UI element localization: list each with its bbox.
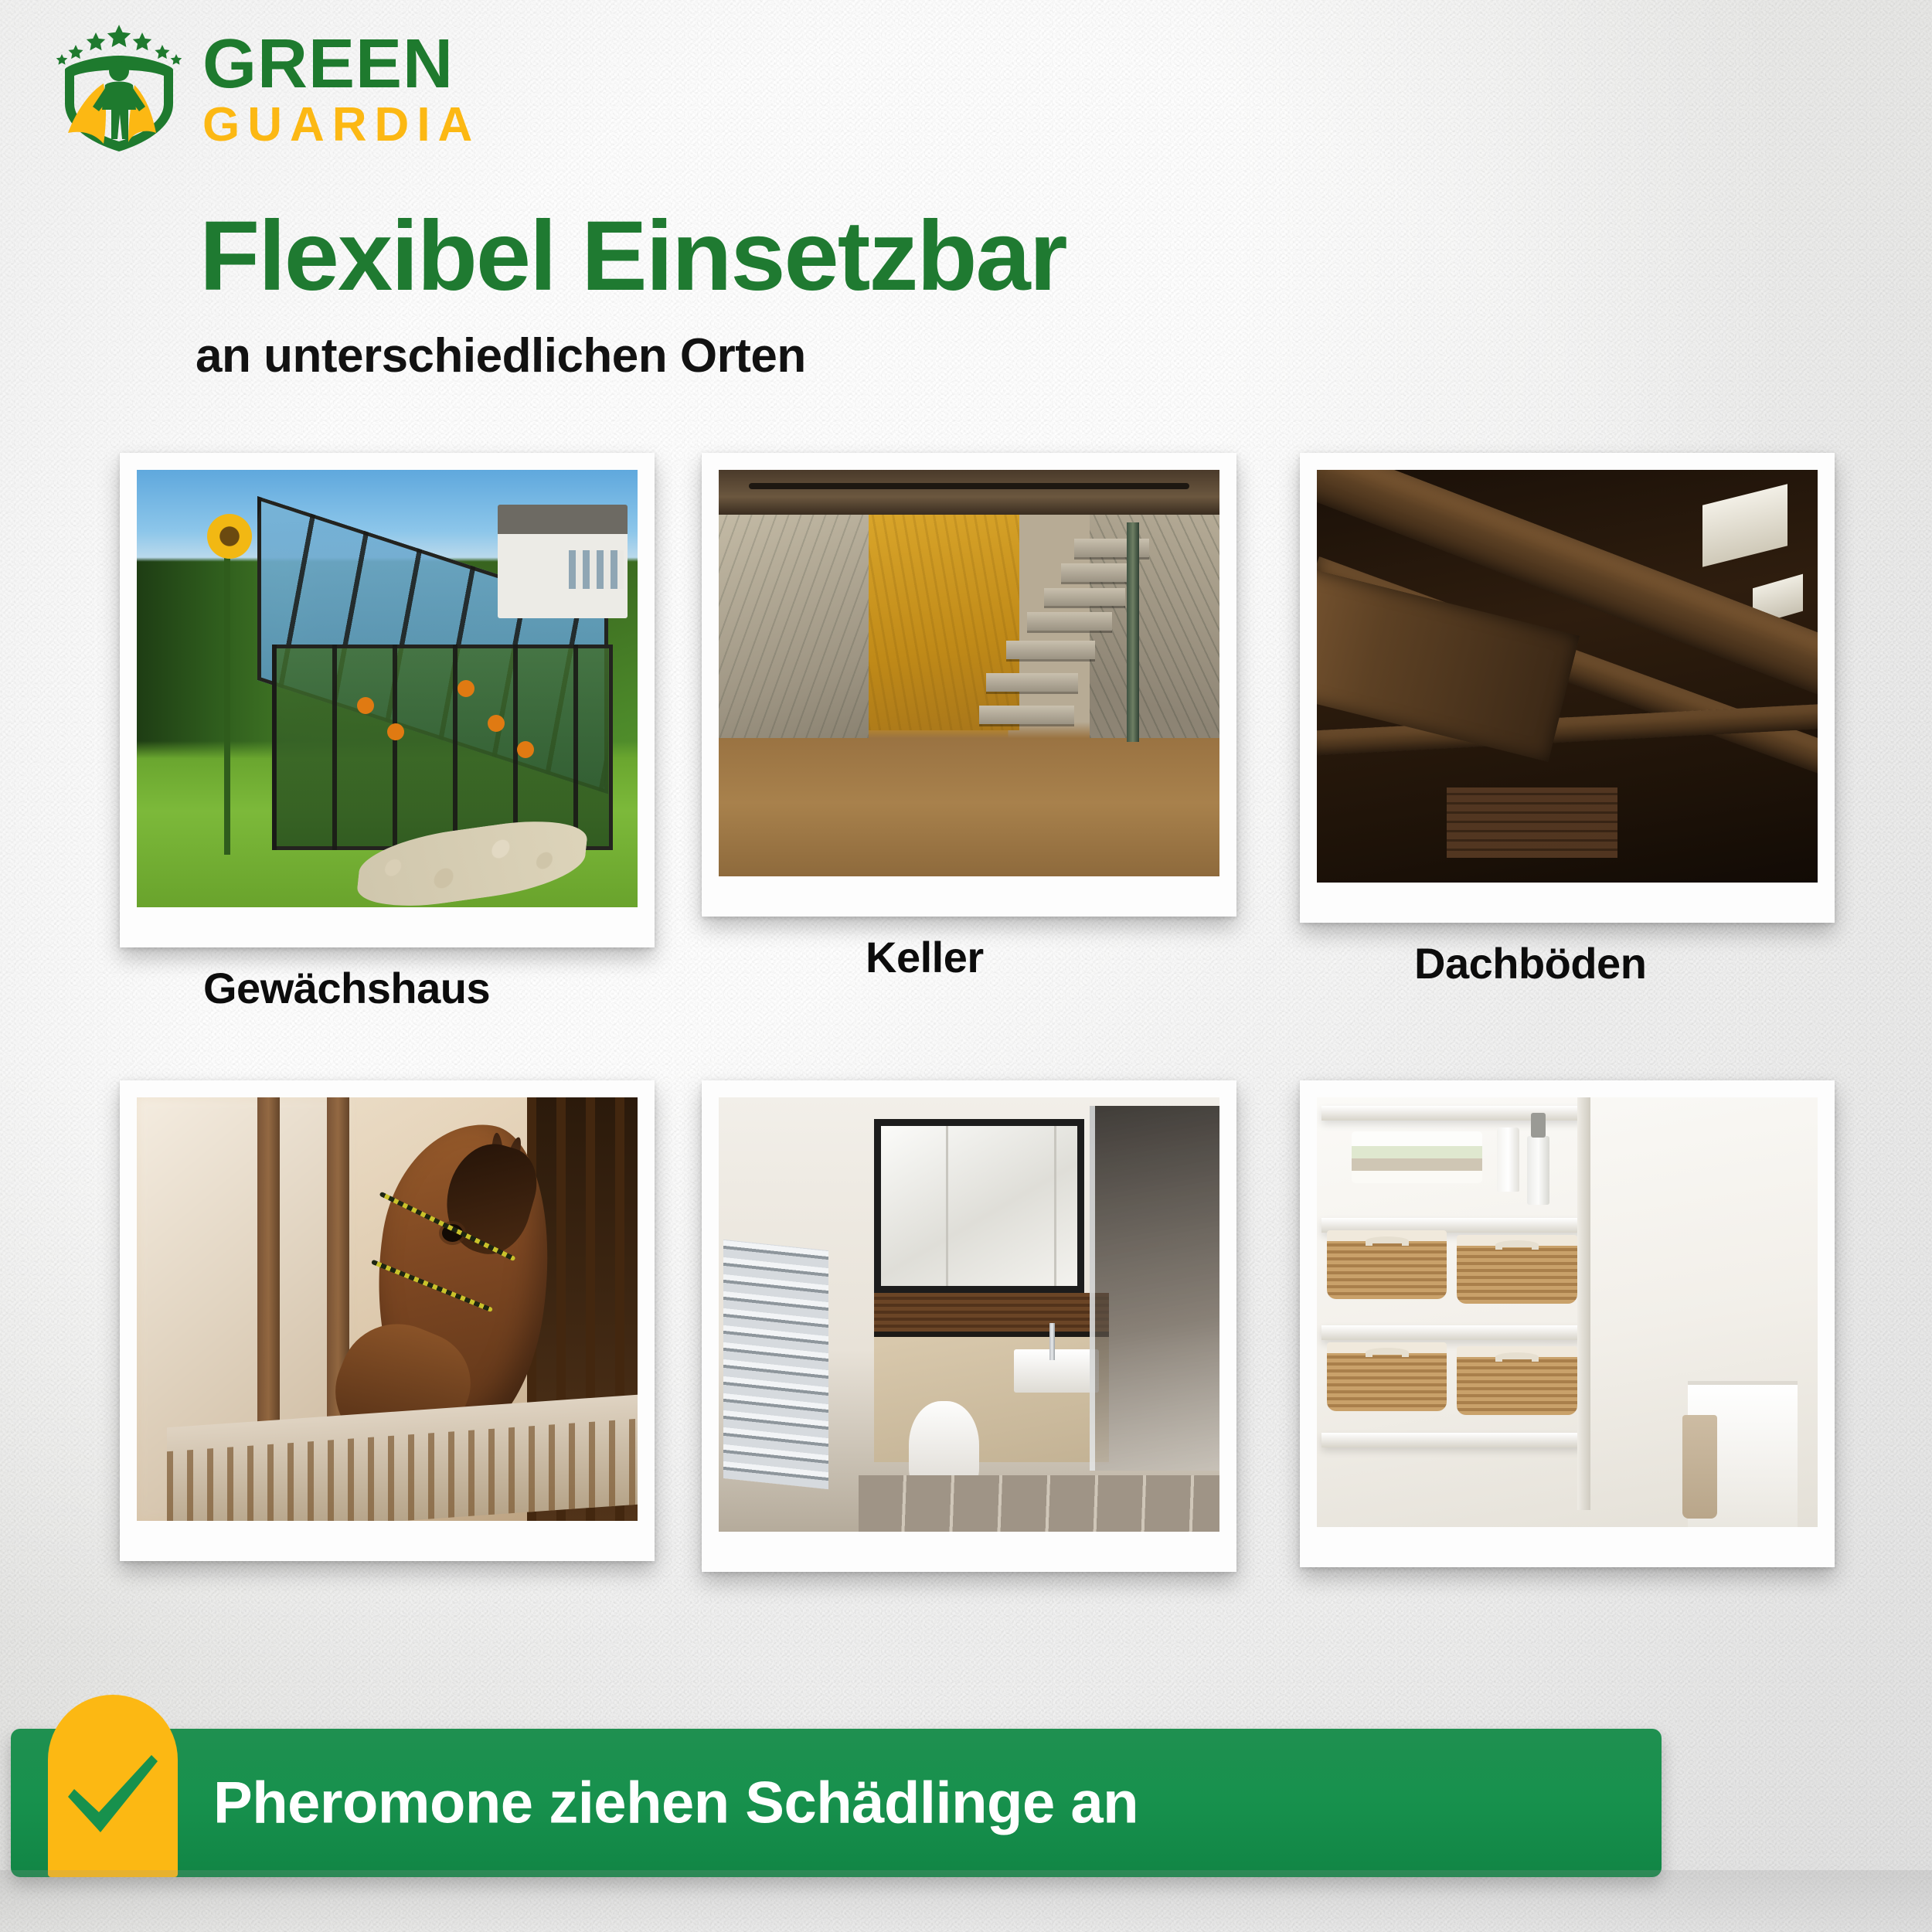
- infographic-page: GREEN GUARDIA Flexibel Einsetzbar an unt…: [0, 0, 1932, 1932]
- bathroom-photo: [719, 1097, 1219, 1532]
- basement-photo: [719, 470, 1219, 876]
- greenhouse-photo: [137, 470, 638, 907]
- photo-frame: [702, 453, 1236, 917]
- location-gallery: Gewächshaus: [0, 0, 1932, 1932]
- gallery-caption: Dachböden: [1414, 938, 1646, 988]
- gallery-caption: Gewächshaus: [203, 963, 490, 1013]
- gallery-item-stable[interactable]: Ställe: [120, 1080, 655, 1575]
- gallery-item-basement[interactable]: Keller: [702, 453, 1236, 947]
- check-mark-icon: [48, 1695, 178, 1877]
- check-glyph: [62, 1752, 164, 1838]
- photo-frame: [1300, 1080, 1835, 1567]
- gallery-item-storage[interactable]: Abstellräume: [1300, 1080, 1835, 1575]
- attic-photo: [1317, 470, 1818, 883]
- storage-room-photo: [1317, 1097, 1818, 1527]
- gallery-item-attic[interactable]: Dachböden: [1300, 453, 1835, 947]
- photo-frame: [702, 1080, 1236, 1572]
- photo-frame: [120, 453, 655, 947]
- gallery-caption: Keller: [866, 932, 984, 982]
- photo-frame: [120, 1080, 655, 1561]
- banner-text: Pheromone ziehen Schädlinge an: [213, 1770, 1138, 1837]
- gallery-item-bathroom[interactable]: Badezimmer: [702, 1080, 1236, 1575]
- gallery-item-greenhouse[interactable]: Gewächshaus: [120, 453, 655, 947]
- photo-frame: [1300, 453, 1835, 923]
- bottom-banner[interactable]: Pheromone ziehen Schädlinge an: [11, 1729, 1662, 1877]
- stable-horse-photo: [137, 1097, 638, 1521]
